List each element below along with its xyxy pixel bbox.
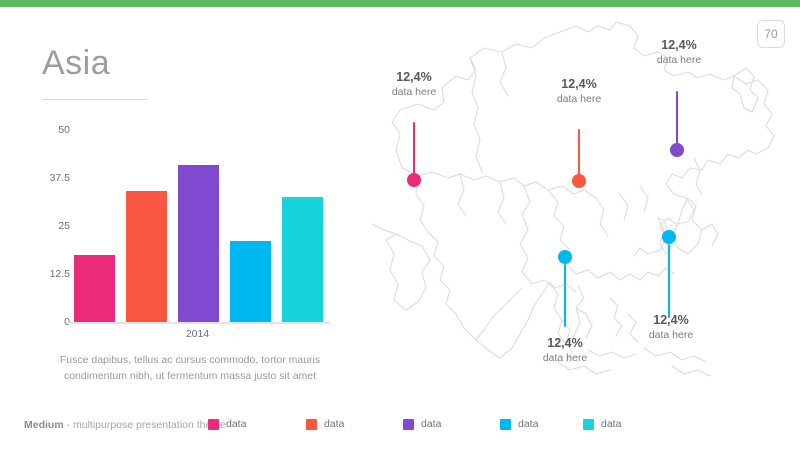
marker-sublabel: data here [621,329,721,343]
marker-sublabel: data here [529,93,629,107]
chart-plot-area [70,130,325,322]
chart-y-axis: 5037.52512.50 [0,130,70,315]
marker-dot-icon [407,173,421,187]
marker-value: 12,4% [364,70,464,86]
marker-dot-icon [572,174,586,188]
chart-y-tick: 37.5 [10,172,70,184]
marker-dot-icon [670,143,684,157]
legend-swatch-icon [583,419,594,430]
marker-value: 12,4% [621,313,721,329]
marker-sublabel: data here [629,54,729,68]
chart-y-tick: 25 [10,220,70,232]
marker-stem [676,91,678,150]
chart-bar [282,197,323,322]
marker-label: 12,4%data here [629,38,729,67]
chart-y-tick: 12.5 [10,268,70,280]
chart-caption: Fusce dapibus, tellus ac cursus commodo,… [30,352,350,385]
legend-swatch-icon [403,419,414,430]
legend-item[interactable]: data [306,418,344,430]
legend-label: data [421,418,441,430]
legend-swatch-icon [306,419,317,430]
legend-swatch-icon [208,419,219,430]
chart-bar [178,165,219,322]
chart-legend: datadatadatadatadata [200,418,660,434]
chart-x-axis-label: 2014 [70,328,325,340]
marker-value: 12,4% [515,336,615,352]
bar-chart: 5037.52512.50 2014 Fusce dapibus, tellus… [0,130,360,390]
marker-label: 12,4%data here [621,313,721,342]
marker-stem [668,244,670,318]
page-title: Asia [42,44,110,83]
legend-label: data [601,418,621,430]
footer-brand: Medium [24,419,64,431]
marker-label: 12,4%data here [529,77,629,106]
legend-item[interactable]: data [208,418,246,430]
chart-y-tick: 50 [10,124,70,136]
marker-dot-icon [662,230,676,244]
legend-label: data [226,418,246,430]
slide-canvas: 70 Asia 5037.52512.50 2014 Fusce dapibus… [0,0,800,450]
chart-y-tick: 0 [10,316,70,328]
marker-sublabel: data here [515,352,615,366]
marker-stem [413,122,415,180]
title-divider [42,99,147,100]
marker-label: 12,4%data here [364,70,464,99]
marker-sublabel: data here [364,86,464,100]
marker-label: 12,4%data here [515,336,615,365]
chart-baseline [66,322,330,324]
legend-item[interactable]: data [500,418,538,430]
footer-brand-note: Medium - multipurpose presentation theme [24,419,226,431]
chart-bar [74,255,115,322]
top-accent-bar [0,0,800,7]
legend-label: data [324,418,344,430]
marker-dot-icon [558,250,572,264]
marker-value: 12,4% [629,38,729,54]
legend-label: data [518,418,538,430]
chart-bar [230,241,271,322]
marker-stem [564,264,566,327]
asia-map: 12,4%data here12,4%data here12,4%data he… [372,18,792,388]
legend-item[interactable]: data [583,418,621,430]
legend-swatch-icon [500,419,511,430]
marker-value: 12,4% [529,77,629,93]
legend-item[interactable]: data [403,418,441,430]
chart-bar [126,191,167,322]
